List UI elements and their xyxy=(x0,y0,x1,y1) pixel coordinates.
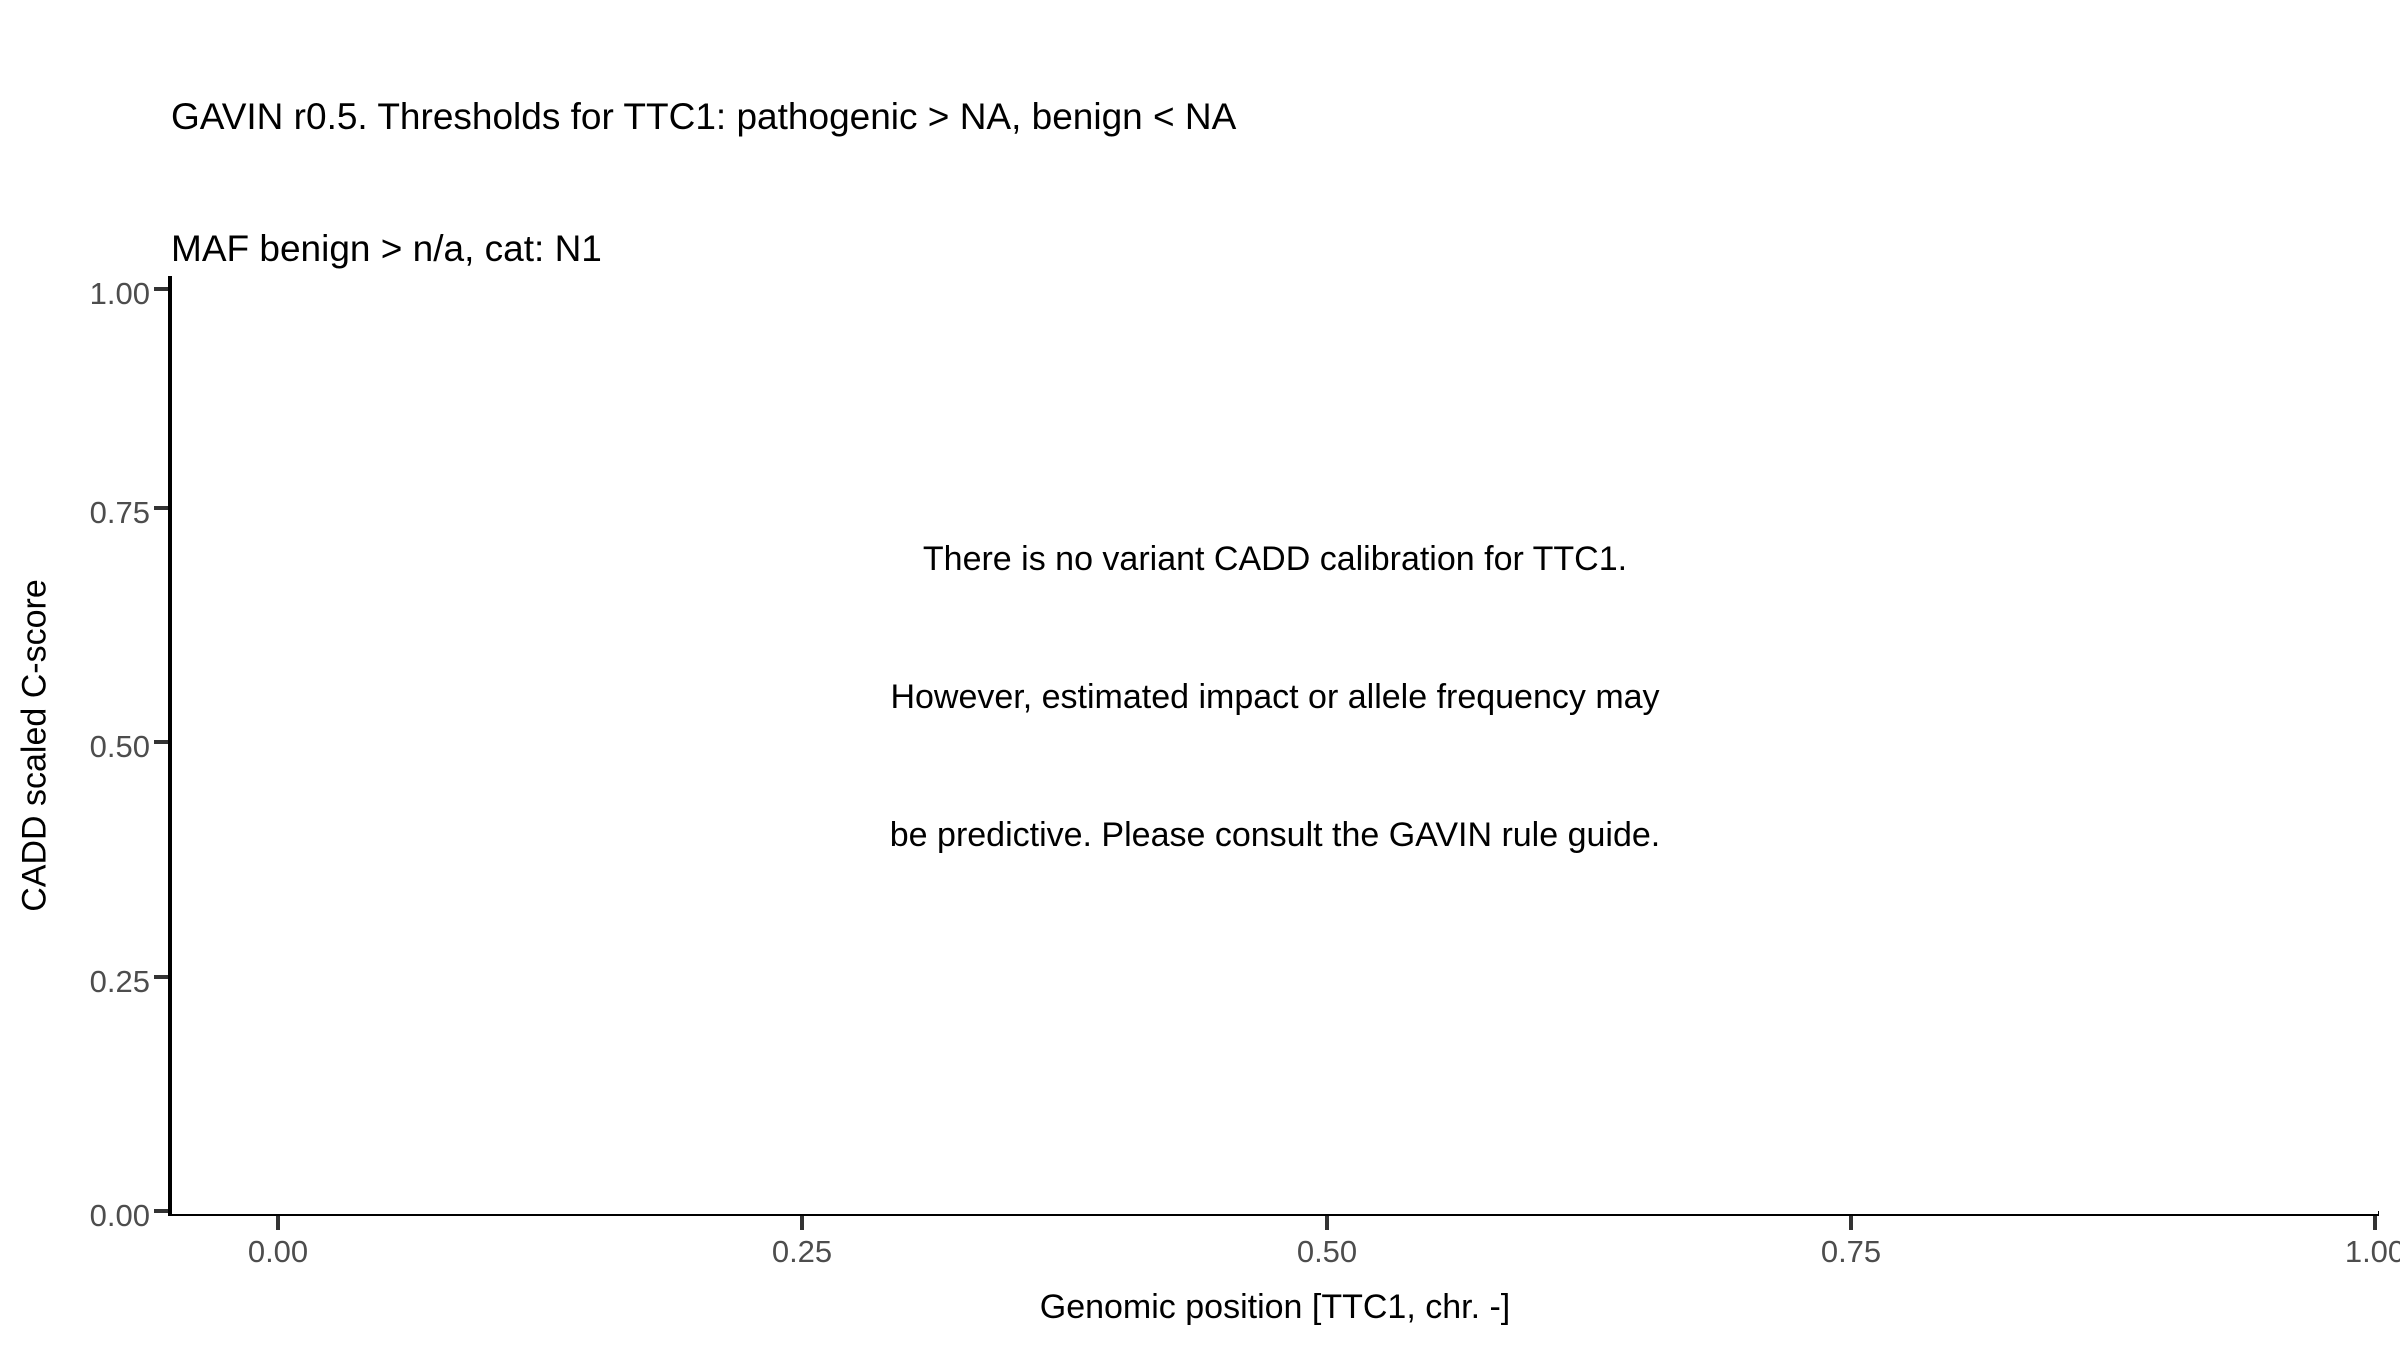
y-tick-label-0.50: 0.50 xyxy=(0,729,150,765)
x-tick-mark-0.75 xyxy=(1849,1216,1853,1230)
y-tick-label-1.00: 1.00 xyxy=(0,276,150,312)
panel-annotation-line-1: There is no variant CADD calibration for… xyxy=(172,536,2378,582)
x-tick-label-0.00: 0.00 xyxy=(178,1234,378,1270)
plot-title-line-2: MAF benign > n/a, cat: N1 xyxy=(171,227,2371,271)
plot-figure: GAVIN r0.5. Thresholds for TTC1: pathoge… xyxy=(0,0,2400,1350)
x-tick-mark-0.25 xyxy=(800,1216,804,1230)
panel-annotation-line-2: However, estimated impact or allele freq… xyxy=(172,674,2378,720)
x-tick-mark-1.00 xyxy=(2373,1216,2377,1230)
x-tick-mark-0.50 xyxy=(1325,1216,1329,1230)
panel-annotation-line-3: be predictive. Please consult the GAVIN … xyxy=(172,812,2378,858)
x-tick-label-0.75: 0.75 xyxy=(1751,1234,1951,1270)
plot-title-line-1: GAVIN r0.5. Thresholds for TTC1: pathoge… xyxy=(171,95,2371,139)
x-tick-label-0.25: 0.25 xyxy=(702,1234,902,1270)
panel-annotation: There is no variant CADD calibration for… xyxy=(172,444,2378,950)
y-tick-mark-0.50 xyxy=(154,740,168,744)
x-tick-mark-0.00 xyxy=(276,1216,280,1230)
y-tick-label-0.25: 0.25 xyxy=(0,964,150,1000)
plot-panel: There is no variant CADD calibration for… xyxy=(172,276,2378,1214)
x-tick-label-0.50: 0.50 xyxy=(1227,1234,1427,1270)
y-tick-mark-1.00 xyxy=(154,287,168,291)
x-axis-title: Genomic position [TTC1, chr. -] xyxy=(172,1288,2378,1327)
x-tick-label-1.00: 1.00 xyxy=(2275,1234,2400,1270)
y-tick-label-0.75: 0.75 xyxy=(0,495,150,531)
y-tick-mark-0.75 xyxy=(154,506,168,510)
y-tick-label-0.00: 0.00 xyxy=(0,1198,150,1234)
y-tick-mark-0.00 xyxy=(154,1209,168,1213)
y-tick-mark-0.25 xyxy=(154,975,168,979)
